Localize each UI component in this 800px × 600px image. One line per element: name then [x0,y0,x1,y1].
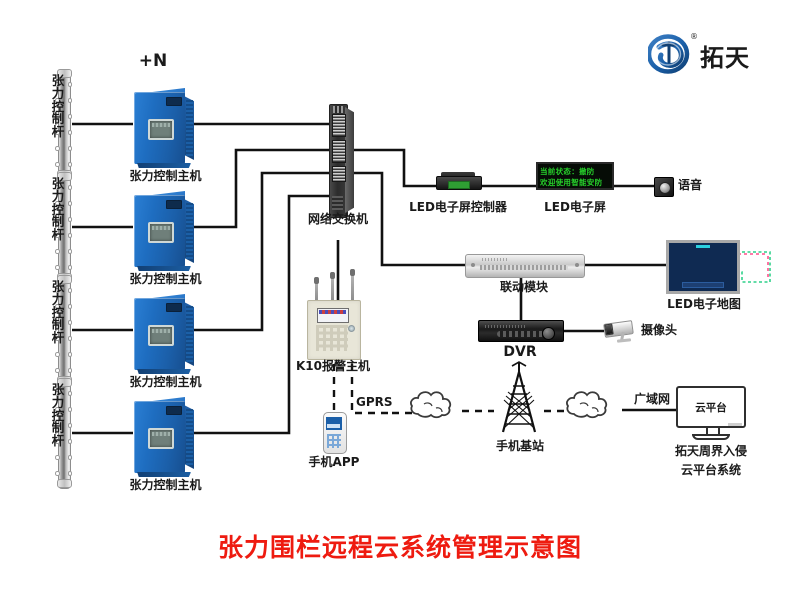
linkage-module-label: 联动模块 [482,281,566,295]
registered-trademark-icon: ® [690,32,698,41]
cloud-icon [411,392,450,417]
mobile-phone-icon [323,412,347,454]
speaker-icon [654,177,674,197]
led-controller-icon [436,172,480,190]
gprs-link-label: GPRS [356,396,400,410]
linkage-module-icon [465,254,585,278]
brand-name: 拓天 [700,38,750,73]
diagram-title: 张力围栏远程云系统管理示意图 [0,528,800,564]
cloud-platform-label-line2: 云平台系统 [652,464,770,478]
led-map-icon [666,240,740,294]
tension-post-label-4: 张力控制杆 [50,384,66,448]
monitor-icon: 云平台 [676,386,746,442]
cell-tower-icon [503,362,535,432]
tension-host-label-4: 张力控制主机 [118,479,213,493]
network-switch-icon [329,104,355,216]
tension-host-label-2: 张力控制主机 [118,273,213,287]
dvr-label: DVR [487,344,553,360]
base-station-label: 手机基站 [487,440,553,454]
led-screen-label: LED电子屏 [532,201,618,215]
network-switch-label: 网络交换机 [292,213,384,227]
alarm-host-icon [307,300,361,360]
led-map-label: LED电子地图 [655,298,753,312]
tension-post-label-3: 张力控制杆 [50,281,66,345]
led-controller-label: LED电子屏控制器 [402,201,514,215]
plus-n-annotation: +N [108,52,198,72]
tension-host-label-1: 张力控制主机 [118,170,213,184]
tension-post-label-1: 张力控制杆 [50,75,66,139]
brand-swirl-icon [648,34,690,74]
antenna-icon [315,277,318,301]
cloud-icon [567,392,606,417]
voice-label: 语音 [678,179,722,193]
alarm-host-label: K10报警主机 [291,360,375,374]
tension-control-host-icon [134,401,194,473]
tension-control-host-icon [134,195,194,267]
tension-control-host-icon [134,298,194,370]
camera-label: 摄像头 [641,324,693,338]
diagram-canvas: 张力控制杆 张力控制杆 张力控制杆 张力控制杆 +N 张力控制主机 [0,0,800,600]
tension-post-label-2: 张力控制杆 [50,178,66,242]
wan-link-label: 广域网 [626,393,678,407]
antenna-icon [331,272,334,301]
cloud-platform-screen-text: 云平台 [676,400,746,415]
brand-logo: ® 拓天 [648,32,778,76]
tension-control-host-icon [134,92,194,164]
camera-icon [604,320,638,342]
tension-host-label-3: 张力控制主机 [118,376,213,390]
phone-app-label: 手机APP [300,456,368,470]
led-screen-line-1: 当前状态：撤防 [540,166,610,177]
antenna-icon [351,269,354,301]
led-screen-line-2: 欢迎使用智能安防 [540,177,610,188]
dvr-icon [478,320,564,342]
led-screen-icon: 当前状态：撤防 欢迎使用智能安防 [536,162,614,190]
cloud-platform-label-line1: 拓天周界入侵 [652,445,770,459]
